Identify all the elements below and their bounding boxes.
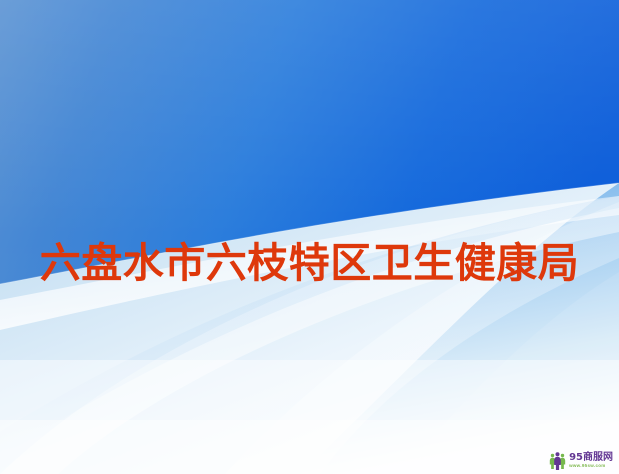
- watermark: 95商服网 www.95sw.com: [549, 451, 613, 470]
- watermark-text: 95商服网 www.95sw.com: [569, 453, 613, 469]
- watermark-site-url: www.95sw.com: [569, 464, 606, 469]
- banner-background: [0, 0, 619, 474]
- people-logo-icon: [549, 451, 566, 470]
- site-banner: 六盘水市六枝特区卫生健康局 95商服网 www.95sw.com: [0, 0, 619, 474]
- watermark-site-name: 95商服网: [569, 453, 613, 463]
